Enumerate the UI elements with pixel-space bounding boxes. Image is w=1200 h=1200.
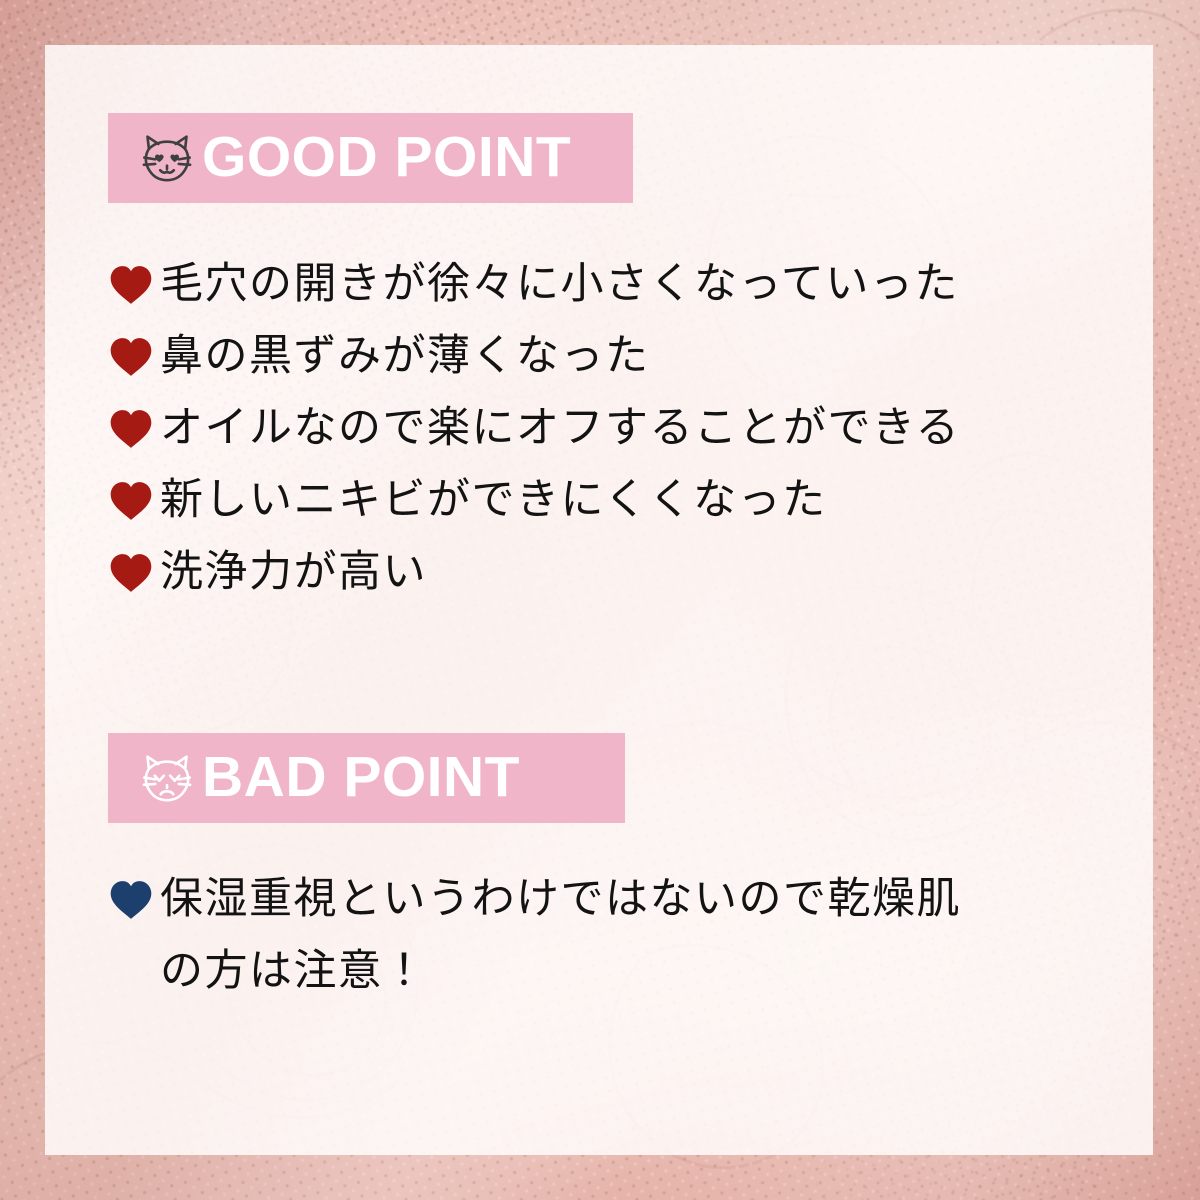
section-heading-label: BAD POINT xyxy=(202,749,520,806)
bad-point-list: 保湿重視というわけではないので乾燥肌 の方は注意！ xyxy=(108,863,1068,1007)
list-item-text: 保湿重視というわけではないので乾燥肌 の方は注意！ xyxy=(160,863,961,1007)
list-item: 鼻の黒ずみが薄くなった xyxy=(108,320,1068,392)
list-item-text: 新しいニキビができにくくなった xyxy=(160,464,827,536)
list-item-text: 洗浄力が高い xyxy=(160,536,427,608)
heart-icon-red xyxy=(108,480,154,522)
good-point-list: 毛穴の開きが徐々に小さくなっていった 鼻の黒ずみが薄くなった オイルなので楽にオ… xyxy=(108,248,1068,608)
heart-icon-red xyxy=(108,264,154,306)
list-item-text: オイルなので楽にオフすることができる xyxy=(160,392,960,464)
heart-icon-red xyxy=(108,408,154,450)
heart-icon-red xyxy=(108,336,154,378)
list-item: 保湿重視というわけではないので乾燥肌 の方は注意！ xyxy=(108,863,1068,1007)
list-item: 毛穴の開きが徐々に小さくなっていった xyxy=(108,248,1068,320)
heart-icon-red xyxy=(108,552,154,594)
list-item-text: 毛穴の開きが徐々に小さくなっていった xyxy=(160,248,959,320)
list-item: 新しいニキビができにくくなった xyxy=(108,464,1068,536)
list-item: 洗浄力が高い xyxy=(108,536,1068,608)
cat-sad-face-icon xyxy=(138,749,196,807)
section-heading-label: GOOD POINT xyxy=(202,129,571,186)
heart-icon-navy xyxy=(108,879,154,921)
section-heading-bad-point: BAD POINT xyxy=(108,733,625,823)
image-canvas: GOOD POINT 毛穴の開きが徐々に小さくなっていった 鼻の黒ずみが薄くなっ… xyxy=(0,0,1200,1200)
section-heading-good-point: GOOD POINT xyxy=(108,113,633,203)
cat-heart-eyes-icon xyxy=(138,129,196,187)
list-item-text: 鼻の黒ずみが薄くなった xyxy=(160,320,650,392)
list-item: オイルなので楽にオフすることができる xyxy=(108,392,1068,464)
